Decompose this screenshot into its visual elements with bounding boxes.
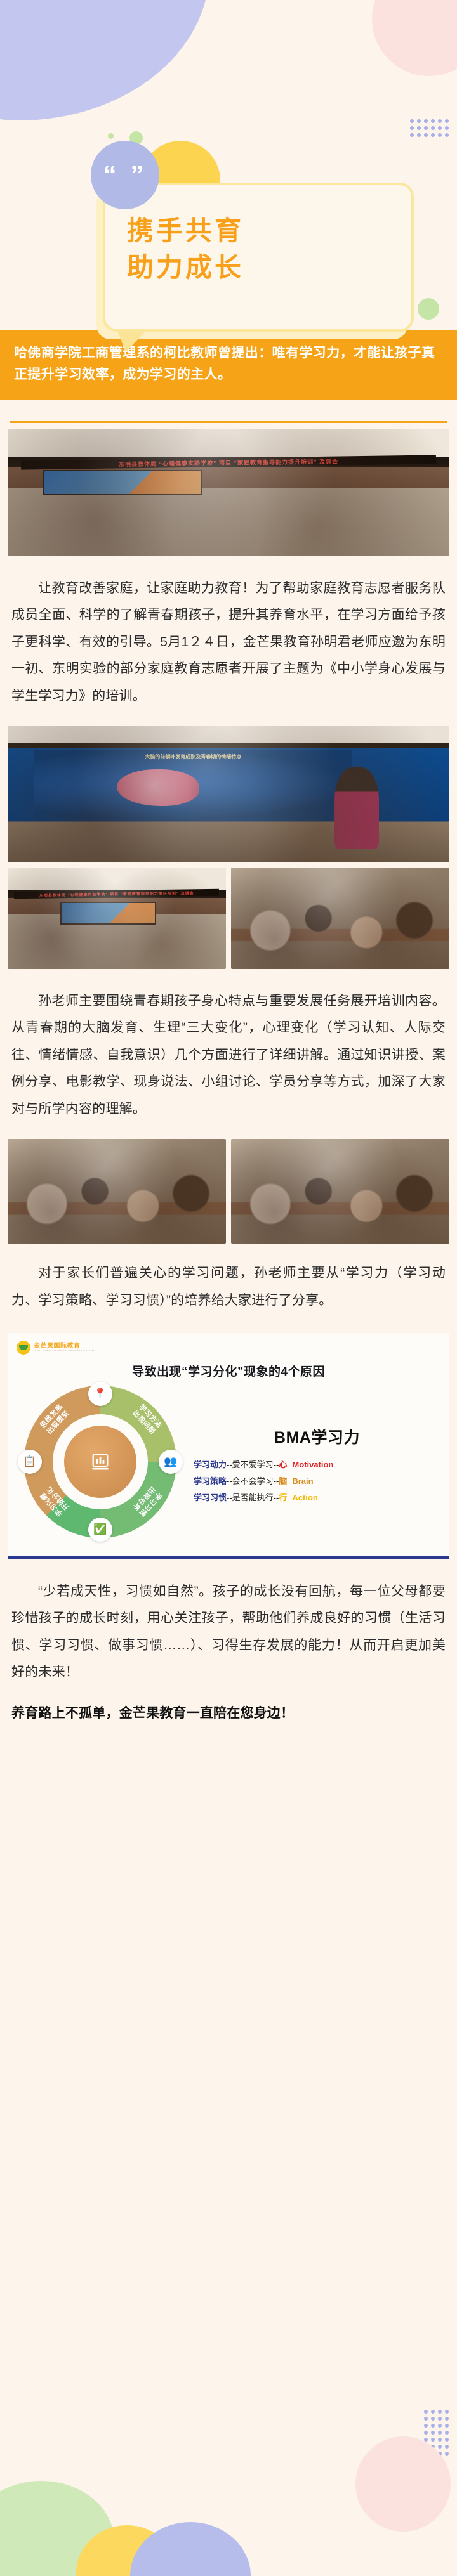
photo-row-upper: 东明县教体局 “心理健康实验学校” 项目 “家庭教育指导能力提升培训” 及调会 <box>0 862 457 969</box>
paragraph-training-content: 孙老师主要围绕青春期孩子身心特点与重要发展任务展开培训内容。从青春期的大脑发育、… <box>0 969 457 1122</box>
brand-logo: 金芒果国际教育 GOLD MANGO INTERNATIONAL EDUCATI… <box>17 1341 440 1355</box>
paragraph-learning-power: 对于家长们普遍关心的学习问题，孙老师主要从“学习力（学习动力、学习策略、学习习惯… <box>0 1244 457 1314</box>
bma-row-1-zh: 脑 <box>279 1476 287 1486</box>
bma-row-brain: 学习策略--会不会学习--脑Brain <box>194 1473 440 1490</box>
closing-statement: 养育路上不孤单，金芒果教育一直陪在您身边！ <box>0 1686 457 1724</box>
article-page: “ ” 携手共育 助力成长 哈佛商学院工商管理系的柯比教师曾提出：唯有学习力，才… <box>0 0 457 1914</box>
page-title-line-1: 携手共育 <box>127 212 394 249</box>
quote-callout: 哈佛商学院工商管理系的柯比教师曾提出：唯有学习力，才能让孩子真正提升学习效率，成… <box>0 330 457 400</box>
bma-slide-title: 导致出现“学习分化”现象的4个原因 <box>17 1362 440 1379</box>
bma-body: 📍 👥 ✅ 📋 思维发展出现质变 学习方法出现问题 学习习惯出现好坏 学习兴趣开… <box>17 1386 440 1545</box>
pink-blob-bottom-right <box>355 2436 451 2532</box>
photo-hall-wide-marquee: 东明县教体局 “心理健康实验学校” 项目 “家庭教育指导能力提升培训” 及调会 <box>14 889 219 899</box>
donut-core <box>64 1426 136 1498</box>
bottom-spacer <box>0 1724 457 1914</box>
bma-row-1-desc: --会不会学习-- <box>227 1476 279 1486</box>
brand-name-en: GOLD MANGO INTERNATIONAL EDUCATION <box>34 1350 94 1352</box>
bma-row-2-key: 学习习惯 <box>194 1493 227 1502</box>
photo-brain-slide-title: 大脑的前额叶发育成熟及青春期的情绪特点 <box>34 753 352 760</box>
hero-header: “ ” 携手共育 助力成长 <box>0 0 457 330</box>
photo-group-discussion-right <box>231 1139 449 1244</box>
photo-brain-lecture: 大脑的前额叶发育成熟及青春期的情绪特点 <box>8 726 449 862</box>
four-causes-donut-chart: 📍 👥 ✅ 📋 思维发展出现质变 学习方法出现问题 学习习惯出现好坏 学习兴趣开… <box>17 1386 185 1545</box>
bma-row-1-en: Brain <box>292 1476 313 1486</box>
bma-legend: BMA学习力 学习动力--爱不爱学习--心Motivation 学习策略--会不… <box>191 1425 440 1506</box>
bma-row-1-key: 学习策略 <box>194 1476 227 1486</box>
photo-hall-wide: 东明县教体局 “心理健康实验学校” 项目 “家庭教育指导能力提升培训” 及调会 <box>8 868 226 969</box>
photo-hall-marquee-text: 东明县教体局 “心理健康实验学校” 项目 “家庭教育指导能力提升培训” 及调会 <box>21 455 436 469</box>
photo-row-lower <box>0 1122 457 1244</box>
page-title-line-2: 助力成长 <box>127 249 394 286</box>
brand-logo-text: 金芒果国际教育 GOLD MANGO INTERNATIONAL EDUCATI… <box>34 1343 94 1353</box>
bma-row-0-key: 学习动力 <box>194 1460 227 1469</box>
bma-row-0-zh: 心 <box>279 1460 287 1469</box>
clipboard-icon-node: 📋 <box>18 1450 42 1474</box>
quote-mark-icon: “ ” <box>91 141 159 209</box>
photo-conference-hall: 东明县教体局 “心理健康实验学校” 项目 “家庭教育指导能力提升培训” 及调会 <box>8 429 449 556</box>
photo-group-discussion-left <box>8 1139 226 1244</box>
bma-row-action: 学习习惯--是否能执行--行Action <box>194 1490 440 1506</box>
bma-row-0-desc: --爱不爱学习-- <box>227 1460 279 1469</box>
bma-slide-card: 金芒果国际教育 GOLD MANGO INTERNATIONAL EDUCATI… <box>8 1333 449 1559</box>
mango-logo-icon <box>17 1341 30 1355</box>
pin-icon-node: 📍 <box>88 1382 112 1406</box>
photo-band-hall: 东明县教体局 “心理健康实验学校” 项目 “家庭教育指导能力提升培训” 及调会 <box>0 429 457 556</box>
brain-illustration-icon <box>117 769 199 806</box>
bma-row-0-en: Motivation <box>292 1460 333 1469</box>
paragraph-closing-advice: “少若成天性，习惯如自然”。孩子的成长没有回航，每一位父母都要珍惜孩子的成长时刻… <box>0 1559 457 1686</box>
book-chart-icon <box>89 1451 111 1473</box>
check-icon-node: ✅ <box>88 1518 112 1542</box>
photo-hall-projection-screen <box>43 470 202 495</box>
page-title: 携手共育 助力成长 <box>127 212 394 286</box>
photo-brain-slide: 大脑的前额叶发育成熟及青春期的情绪特点 <box>34 750 352 821</box>
photo-attendees-taking-notes <box>231 868 449 969</box>
bma-row-2-zh: 行 <box>279 1493 287 1502</box>
bma-row-2-en: Action <box>292 1493 317 1502</box>
people-icon-node: 👥 <box>159 1450 183 1474</box>
photo-band-brain: 大脑的前额叶发育成熟及青春期的情绪特点 <box>0 710 457 862</box>
divider-rule <box>10 421 447 423</box>
divider-wrap <box>0 400 457 429</box>
paragraph-intro: 让教育改善家庭，让家庭助力教育！为了帮助家庭教育志愿者服务队成员全面、科学的了解… <box>0 556 457 710</box>
bma-row-motivation: 学习动力--爱不爱学习--心Motivation <box>194 1457 440 1473</box>
photo-hall-wide-screen <box>60 902 156 924</box>
photo-brain-speaker <box>334 767 379 849</box>
bma-heading: BMA学习力 <box>194 1425 440 1448</box>
bma-row-2-desc: --是否能执行-- <box>227 1493 279 1502</box>
